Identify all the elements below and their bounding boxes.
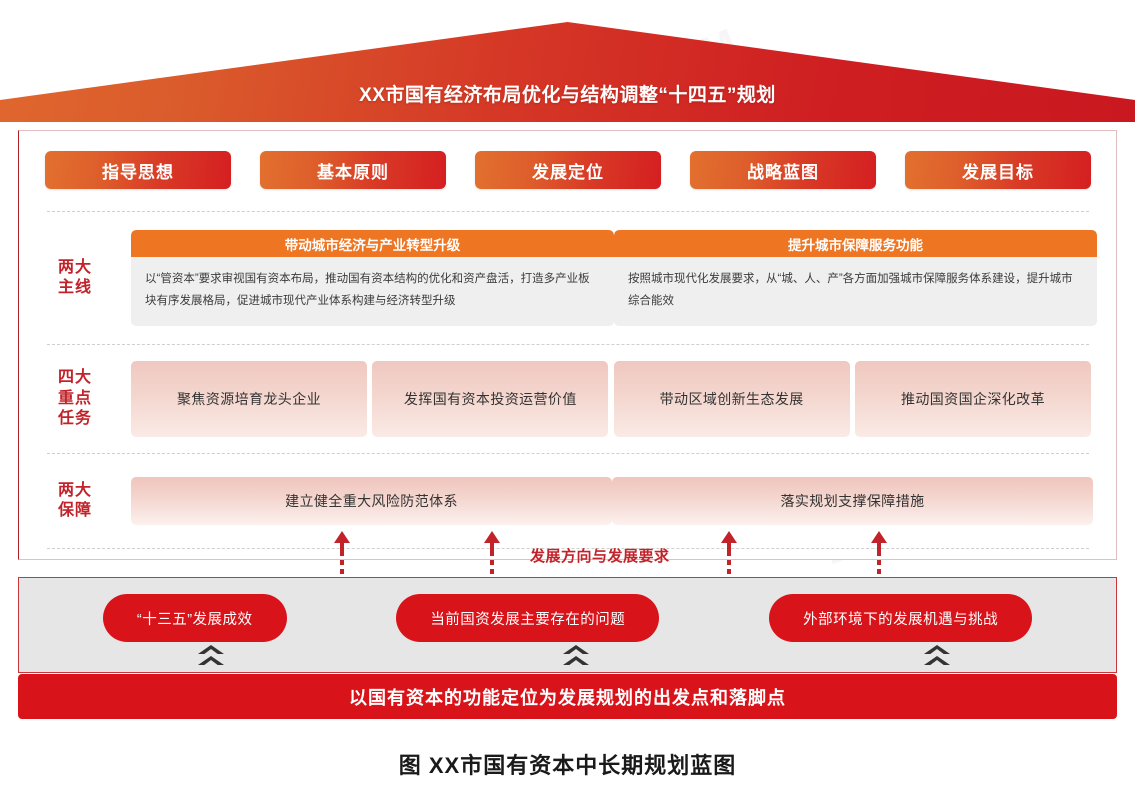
up-arrow-icon-3	[718, 531, 740, 575]
chevron-mask-1b	[203, 660, 219, 666]
row-label-key-tasks: 四大 重点 任务	[19, 368, 131, 429]
chevron-mask-1a	[203, 649, 219, 655]
row-label-safeguards: 两大 保障	[19, 481, 131, 522]
up-arrow-icon-1	[331, 531, 353, 575]
up-arrow-icon-4	[868, 531, 890, 575]
row-label-safeguards-line2: 保障	[19, 501, 131, 521]
task-card-3[interactable]: 带动区域创新生态发展	[614, 361, 850, 437]
row-label-mainlines: 两大 主线	[19, 258, 131, 299]
safeguard-card-1[interactable]: 建立健全重大风险防范体系	[131, 477, 612, 525]
separator-3	[47, 453, 1089, 454]
top-button-development-goals[interactable]: 发展目标	[905, 151, 1091, 189]
arrow-dash-3b	[727, 569, 731, 574]
base-pill-row: “十三五”发展成效 当前国资发展主要存在的问题 外部环境下的发展机遇与挑战	[18, 594, 1117, 642]
row-label-safeguards-line1: 两大	[19, 481, 131, 501]
chevron-mask-3b	[929, 660, 945, 666]
double-chevron-up-icon-2	[563, 645, 589, 671]
base-pill-problems[interactable]: 当前国资发展主要存在的问题	[396, 594, 659, 642]
row-body-key-tasks: 聚焦资源培育龙头企业 发挥国有资本投资运营价值 带动区域创新生态发展 推动国资国…	[131, 361, 1118, 437]
row-label-key-tasks-line2: 重点	[19, 389, 131, 409]
separator-1	[47, 211, 1089, 212]
base-pill-achievements[interactable]: “十三五”发展成效	[103, 594, 287, 642]
arrow-dash-4b	[877, 569, 881, 574]
row-body-mainlines: 带动城市经济与产业转型升级 以“管资本”要求审视国有资本布局，推动国有资本结构的…	[131, 230, 1124, 326]
row-label-key-tasks-line3: 任务	[19, 409, 131, 429]
task-card-1[interactable]: 聚焦资源培育龙头企业	[131, 361, 367, 437]
row-label-mainlines-line2: 主线	[19, 278, 131, 298]
task-card-2[interactable]: 发挥国有资本投资运营价值	[372, 361, 608, 437]
arrow-shaft-3	[727, 542, 731, 556]
main-panel: 指导思想 基本原则 发展定位 战略蓝图 发展目标 两大 主线 带动城市经济与产业…	[18, 130, 1117, 560]
row-mainlines: 两大 主线 带动城市经济与产业转型升级 以“管资本”要求审视国有资本布局，推动国…	[19, 219, 1118, 337]
row-key-tasks: 四大 重点 任务 聚焦资源培育龙头企业 发挥国有资本投资运营价值 带动区域创新生…	[19, 353, 1118, 445]
top-button-row: 指导思想 基本原则 发展定位 战略蓝图 发展目标	[45, 151, 1091, 189]
arrow-strip-label: 发展方向与发展要求	[530, 545, 670, 566]
arrow-dash-3a	[727, 560, 731, 565]
separator-2	[47, 344, 1089, 345]
figure-caption: 图 XX市国有资本中长期规划蓝图	[0, 748, 1135, 780]
banner-title: XX市国有经济布局优化与结构调整“十四五”规划	[0, 22, 1135, 122]
top-button-guiding-ideology[interactable]: 指导思想	[45, 151, 231, 189]
up-arrow-icon-2	[481, 531, 503, 575]
mainline-card-1-header: 带动城市经济与产业转型升级	[131, 230, 614, 257]
row-body-safeguards: 建立健全重大风险防范体系 落实规划支撑保障措施	[131, 477, 1120, 525]
top-button-basic-principles[interactable]: 基本原则	[260, 151, 446, 189]
safeguard-card-2[interactable]: 落实规划支撑保障措施	[612, 477, 1093, 525]
double-chevron-up-icon-1	[198, 645, 224, 671]
row-label-mainlines-line1: 两大	[19, 258, 131, 278]
mainline-card-2-body: 按照城市现代化发展要求，从“城、人、产”各方面加强城市保障服务体系建设，提升城市…	[614, 257, 1097, 326]
base-pill-opportunities[interactable]: 外部环境下的发展机遇与挑战	[769, 594, 1032, 642]
mainline-card-1[interactable]: 带动城市经济与产业转型升级 以“管资本”要求审视国有资本布局，推动国有资本结构的…	[131, 230, 614, 326]
double-chevron-up-icon-3	[924, 645, 950, 671]
arrow-dash-2a	[490, 560, 494, 565]
chevron-strip	[18, 645, 1117, 677]
arrow-shaft-1	[340, 542, 344, 556]
row-label-key-tasks-line1: 四大	[19, 368, 131, 388]
top-button-development-positioning[interactable]: 发展定位	[475, 151, 661, 189]
chevron-mask-3a	[929, 649, 945, 655]
mainline-card-2[interactable]: 提升城市保障服务功能 按照城市现代化发展要求，从“城、人、产”各方面加强城市保障…	[614, 230, 1097, 326]
chevron-mask-2a	[568, 649, 584, 655]
title-banner: XX市国有经济布局优化与结构调整“十四五”规划	[0, 22, 1135, 122]
arrow-shaft-2	[490, 542, 494, 556]
arrow-dash-1a	[340, 560, 344, 565]
mainline-card-1-body: 以“管资本”要求审视国有资本布局，推动国有资本结构的优化和资产盘活，打造多产业板…	[131, 257, 614, 326]
chevron-mask-2b	[568, 660, 584, 666]
arrow-dash-1b	[340, 569, 344, 574]
arrow-dash-4a	[877, 560, 881, 565]
mainline-card-2-header: 提升城市保障服务功能	[614, 230, 1097, 257]
task-card-4[interactable]: 推动国资国企深化改革	[855, 361, 1091, 437]
top-button-strategic-blueprint[interactable]: 战略蓝图	[690, 151, 876, 189]
footer-banner: 以国有资本的功能定位为发展规划的出发点和落脚点	[18, 674, 1117, 719]
arrow-shaft-4	[877, 542, 881, 556]
arrow-strip: 发展方向与发展要求	[0, 527, 1135, 575]
arrow-dash-2b	[490, 569, 494, 574]
